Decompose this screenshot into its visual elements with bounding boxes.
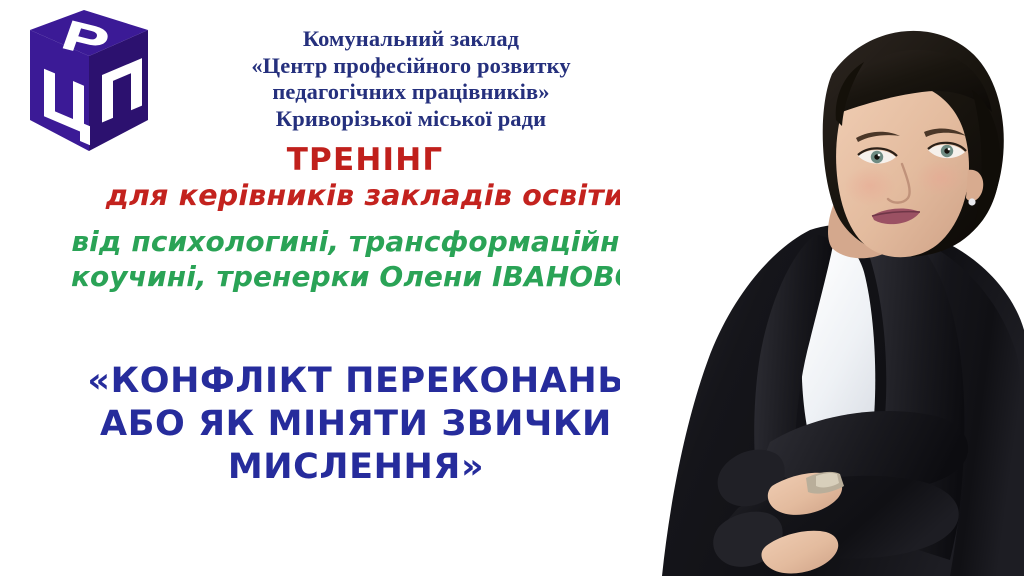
org-header-line-1: Комунальний заклад bbox=[196, 26, 626, 53]
organisation-header: Комунальний заклад «Центр професійного р… bbox=[196, 26, 626, 132]
presenter-line-2: коучині, тренерки Олени ІВАНОВОЇ bbox=[30, 259, 690, 294]
org-header-line-3: педагогічних працівників» bbox=[196, 79, 626, 106]
org-header-line-2: «Центр професійного розвитку bbox=[196, 53, 626, 80]
main-title-line-3: МИСЛЕННЯ» bbox=[36, 446, 676, 489]
cheek-right bbox=[916, 160, 964, 196]
main-title-line-1: «КОНФЛІКТ ПЕРЕКОНАНЬ bbox=[36, 360, 676, 403]
presenter-credentials: від психологині, трансформаційної коучин… bbox=[30, 224, 690, 294]
training-subheading: для керівників закладів освіти bbox=[40, 178, 690, 213]
org-header-line-4: Криворізької міської ради bbox=[196, 106, 626, 133]
training-heading-block: ТРЕНІНГ для керівників закладів освіти bbox=[40, 142, 690, 213]
training-heading: ТРЕНІНГ bbox=[40, 142, 690, 178]
page-title: «КОНФЛІКТ ПЕРЕКОНАНЬ АБО ЯК МІНЯТИ ЗВИЧК… bbox=[36, 360, 676, 489]
promo-slide: Комунальний заклад «Центр професійного р… bbox=[0, 0, 1024, 576]
main-title-line-2: АБО ЯК МІНЯТИ ЗВИЧКИ bbox=[36, 403, 676, 446]
presenter-line-1: від психологині, трансформаційної bbox=[30, 224, 690, 259]
presenter-portrait bbox=[620, 0, 1024, 576]
earring bbox=[968, 198, 975, 205]
